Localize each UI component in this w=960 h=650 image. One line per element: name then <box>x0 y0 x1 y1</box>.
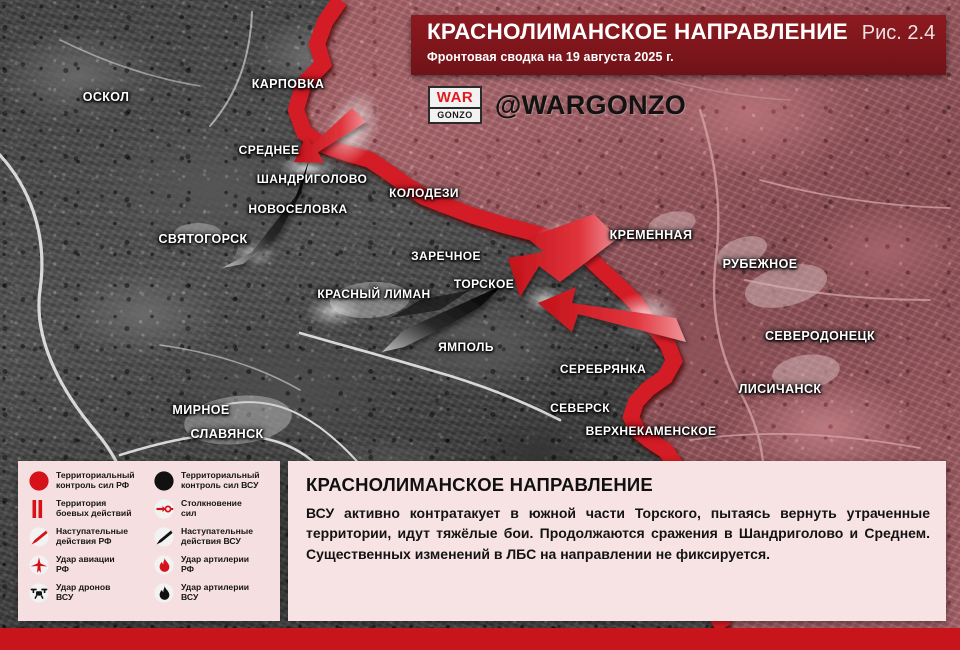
title-banner: КРАСНОЛИМАНСКОЕ НАПРАВЛЕНИЕ Рис. 2.4 Фро… <box>411 15 946 75</box>
legend-item-label: Удар артилерииВСУ <box>181 582 249 603</box>
red-artillery-blast-icon <box>153 554 175 576</box>
rf-arrow-srednee <box>294 108 366 163</box>
rf-arrow-south <box>538 287 686 342</box>
legend-item: Удар дроновВСУ <box>28 582 147 604</box>
legend-item-label: Наступательныедействия РФ <box>56 526 128 547</box>
ua-arrow-svyatogorsk <box>222 160 309 268</box>
wargonzo-logo: WAR GONZO <box>428 86 482 124</box>
situation-report-title: КРАСНОЛИМАНСКОЕ НАПРАВЛЕНИЕ <box>306 474 930 496</box>
situation-report-body: ВСУ активно контратакует в южной части Т… <box>306 503 930 564</box>
legend-item-label: Удар дроновВСУ <box>56 582 110 603</box>
legend-item: Территориальныйконтроль сил ВСУ <box>153 470 272 492</box>
legend-grid: Территориальныйконтроль сил РФТерриториа… <box>28 470 272 604</box>
legend-item-label: Территориябоевых действий <box>56 498 131 519</box>
rf-arrow-north <box>508 214 618 297</box>
black-artillery-blast-icon <box>153 582 175 604</box>
red-hatched-bars-icon <box>28 498 50 520</box>
black-filled-circle-icon <box>153 470 175 492</box>
brand-row: WAR GONZO @WARGONZO <box>428 86 686 124</box>
legend-item-label: Территориальныйконтроль сил ВСУ <box>181 470 260 491</box>
ua-arrow-torskoye <box>382 285 503 352</box>
legend-item: Удар артилерииВСУ <box>153 582 272 604</box>
legend-item: Наступательныедействия РФ <box>28 526 147 548</box>
legend-item-label: Столкновениесил <box>181 498 242 519</box>
map-legend: Территориальныйконтроль сил РФТерриториа… <box>18 461 280 621</box>
social-handle: @WARGONZO <box>495 90 686 121</box>
legend-item-label: Удар артилерииРФ <box>181 554 249 575</box>
clash-of-forces-icon <box>153 498 175 520</box>
page-title: КРАСНОЛИМАНСКОЕ НАПРАВЛЕНИЕ <box>427 21 848 44</box>
legend-item: Наступательныедействия ВСУ <box>153 526 272 548</box>
report-date-subtitle: Фронтовая сводка на 19 августа 2025 г. <box>411 44 946 64</box>
legend-item-label: Удар авиацииРФ <box>56 554 115 575</box>
red-filled-circle-icon <box>28 470 50 492</box>
title-row: КРАСНОЛИМАНСКОЕ НАПРАВЛЕНИЕ Рис. 2.4 <box>411 15 946 44</box>
infographic-frame: ОСКОЛКАРПОВКАСРЕДНЕЕШАНДРИГОЛОВОНОВОСЕЛО… <box>0 0 960 650</box>
red-offensive-arrow-icon <box>28 526 50 548</box>
legend-item: Территориябоевых действий <box>28 498 147 520</box>
situation-report-panel: КРАСНОЛИМАНСКОЕ НАПРАВЛЕНИЕ ВСУ активно … <box>288 461 946 621</box>
legend-item: Столкновениесил <box>153 498 272 520</box>
legend-item-label: Территориальныйконтроль сил РФ <box>56 470 135 491</box>
red-aircraft-icon <box>28 554 50 576</box>
bottom-accent-bar <box>0 628 960 650</box>
legend-item: Территориальныйконтроль сил РФ <box>28 470 147 492</box>
logo-gonzo-text: GONZO <box>430 107 480 122</box>
black-drone-icon <box>28 582 50 604</box>
logo-war-text: WAR <box>430 88 480 107</box>
figure-number: Рис. 2.4 <box>862 23 935 43</box>
legend-item: Удар артилерииРФ <box>153 554 272 576</box>
black-offensive-arrow-icon <box>153 526 175 548</box>
legend-item: Удар авиацииРФ <box>28 554 147 576</box>
legend-item-label: Наступательныедействия ВСУ <box>181 526 253 547</box>
